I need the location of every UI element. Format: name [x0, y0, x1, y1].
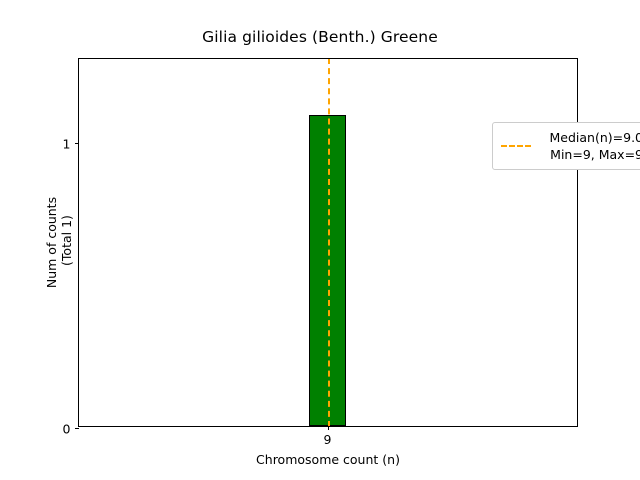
plot-axes: 0 1 9 Median(n)=9.0Min=9, Max=9 [78, 58, 578, 427]
page-title: Gilia gilioides (Benth.) Greene [0, 28, 640, 46]
y-axis-label: Num of counts (Total 1) [44, 58, 78, 427]
legend-line-1: Median(n)=9.0 [550, 130, 640, 145]
xtick-mark-9 [328, 426, 329, 430]
dashed-line-icon [501, 145, 531, 147]
ytick-mark-0: 0 [75, 428, 79, 429]
y-axis-label-text: Num of counts (Total 1) [44, 197, 74, 288]
plot-area [79, 59, 577, 426]
legend: Median(n)=9.0Min=9, Max=9 [492, 122, 640, 170]
xtick-label-9: 9 [324, 432, 332, 447]
chart-figure: Gilia gilioides (Benth.) Greene 0 1 9 Me… [0, 0, 640, 480]
legend-entry-label: Median(n)=9.0Min=9, Max=9 [539, 129, 640, 163]
legend-entry-median: Median(n)=9.0Min=9, Max=9 [501, 129, 640, 163]
legend-line-2: Min=9, Max=9 [550, 147, 640, 162]
x-axis-label: Chromosome count (n) [78, 452, 578, 467]
median-line [328, 59, 330, 426]
